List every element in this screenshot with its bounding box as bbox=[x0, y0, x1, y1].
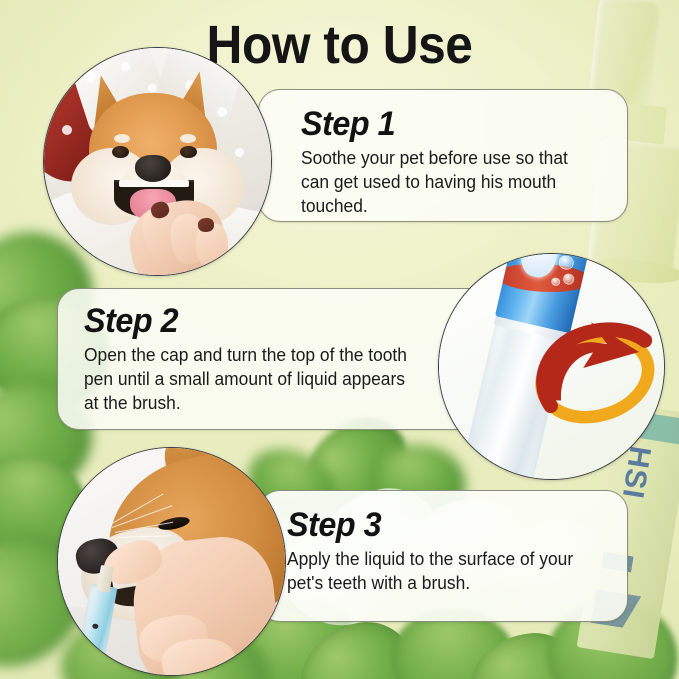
step-2-photo bbox=[438, 253, 665, 480]
step-2-body: Open the cap and turn the top of the too… bbox=[84, 343, 413, 415]
photo-shiba-held bbox=[44, 48, 271, 275]
step-3-label: Step 3 bbox=[287, 505, 583, 545]
step-3-photo bbox=[57, 447, 286, 676]
dog-nose bbox=[135, 155, 171, 182]
step-1-content: Step 1 Soothe your pet before use so tha… bbox=[301, 104, 613, 218]
step-1-card: Step 1 Soothe your pet before use so tha… bbox=[258, 89, 628, 222]
how-to-use-infographic: HSI How to Use Step 1 Soothe your pet be… bbox=[0, 0, 679, 679]
photo-tooth-pen-twist bbox=[439, 254, 664, 479]
step-2-label: Step 2 bbox=[84, 301, 417, 341]
step-3-body: Apply the liquid to the surface of your … bbox=[287, 547, 580, 595]
step-2-content: Step 2 Open the cap and turn the top of … bbox=[84, 301, 434, 415]
step-1-body: Soothe your pet before use so that can g… bbox=[301, 146, 594, 218]
step-1-photo bbox=[43, 47, 272, 276]
dog-eye-left bbox=[112, 146, 129, 158]
step-3-content: Step 3 Apply the liquid to the surface o… bbox=[287, 505, 599, 595]
photo-apply-to-teeth bbox=[58, 448, 285, 675]
step-1-label: Step 1 bbox=[301, 104, 597, 144]
step-3-card: Step 3 Apply the liquid to the surface o… bbox=[258, 490, 628, 622]
rotation-arrow-icon bbox=[529, 313, 665, 439]
